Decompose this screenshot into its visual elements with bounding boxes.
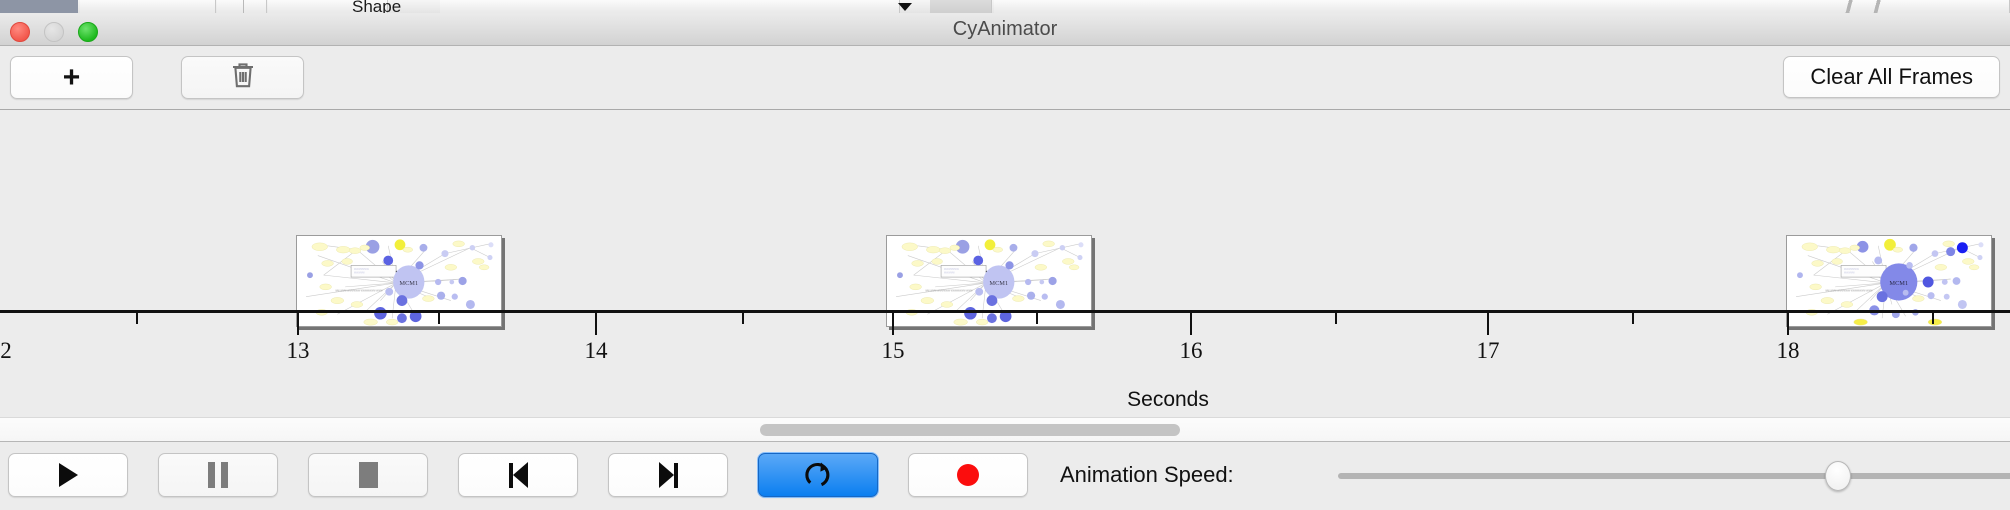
horizontal-scrollbar-thumb[interactable] (760, 424, 1180, 436)
axis-major-tick (297, 313, 299, 335)
svg-text:WW WWW WWWWWW WWWWWWW WWW: WW WWW WWWWWW WWWWWWW WWW (335, 291, 383, 293)
loop-button[interactable] (758, 453, 878, 497)
background-dropdown-arrow-icon (898, 3, 912, 11)
axis-minor-tick (1335, 313, 1337, 324)
clear-all-frames-button[interactable]: Clear All Frames (1783, 56, 2000, 98)
loop-icon (804, 460, 832, 490)
background-window-strip: Shape (0, 0, 2010, 13)
pause-button[interactable] (158, 453, 278, 497)
stop-button[interactable] (308, 453, 428, 497)
record-icon (957, 464, 979, 486)
frame-thumbnail-18[interactable]: WWWWWWWWWWWW WW WWW WWWWWW WWWWWWW WWW M… (1786, 235, 1992, 327)
axis-tick-label: 17 (1477, 338, 1500, 364)
svg-text:WWWWW: WWWWW (354, 273, 365, 275)
axis-major-tick (892, 313, 894, 335)
background-cell (930, 0, 992, 13)
axis-tick-label: 14 (585, 338, 608, 364)
timeline-panel[interactable]: WWWWWWWWWWWW WW WWW WWWWWW WWWWWWW WWW M… (0, 110, 2010, 417)
skip-to-start-button[interactable] (458, 453, 578, 497)
svg-text:WW WWW WWWWWW WWWWWWW WWW: WW WWW WWWWWW WWWWWWW WWW (1825, 291, 1873, 293)
svg-text:MCM1: MCM1 (1889, 280, 1908, 287)
axis-minor-tick (136, 313, 138, 324)
axis-tick-label: 15 (882, 338, 905, 364)
axis-major-tick (1190, 313, 1192, 335)
svg-text:WW WWW WWWWWW WWWWWWW WWW: WW WWW WWWWWW WWWWWWW WWW (925, 291, 973, 293)
axis-minor-tick (742, 313, 744, 324)
background-resize-hatch (1806, 0, 1896, 13)
horizontal-scrollbar-track[interactable] (0, 417, 2010, 442)
background-cell (217, 0, 267, 13)
delete-frame-button[interactable] (181, 56, 304, 99)
play-button[interactable] (8, 453, 128, 497)
skip-back-icon (509, 462, 528, 488)
axis-minor-tick (1036, 313, 1038, 324)
axis-tick-label: 18 (1777, 338, 1800, 364)
svg-text:MCM1: MCM1 (399, 280, 418, 287)
pause-icon (208, 462, 228, 488)
background-window-label: Shape (352, 0, 401, 13)
plus-icon: + (63, 63, 81, 93)
playback-control-bar: Animation Speed: (0, 443, 2010, 510)
svg-text:WWWWWWW: WWWWWWW (944, 269, 960, 271)
title-bar: CyAnimator (0, 13, 2010, 46)
animation-speed-slider[interactable] (1338, 473, 2010, 479)
animation-speed-slider-knob[interactable] (1825, 461, 1851, 491)
axis-major-tick (595, 313, 597, 335)
record-button[interactable] (908, 453, 1028, 497)
stop-icon (359, 462, 378, 488)
svg-text:MCM1: MCM1 (989, 280, 1008, 287)
axis-tick-label: 16 (1180, 338, 1203, 364)
frame-toolbar: + Clear All Frames (0, 46, 2010, 110)
trash-icon (230, 61, 256, 94)
window-title: CyAnimator (0, 13, 2010, 46)
svg-text:WWWWW: WWWWW (944, 273, 955, 275)
animation-speed-label: Animation Speed: (1060, 453, 1234, 497)
background-selected-tab (0, 0, 78, 13)
axis-major-tick (1787, 313, 1789, 335)
background-cell (440, 0, 900, 13)
axis-minor-tick (438, 313, 440, 324)
background-cell (80, 0, 216, 13)
svg-text:WWWWW: WWWWW (1844, 273, 1855, 275)
skip-to-end-button[interactable] (608, 453, 728, 497)
svg-text:WWWWWWW: WWWWWWW (1844, 269, 1860, 271)
skip-forward-icon (659, 462, 678, 488)
frame-thumbnail-15[interactable]: WWWWWWWWWWWW WW WWW WWWWWW WWWWWWW WWW M… (886, 235, 1092, 327)
cyanimator-window: Shape CyAnimator + (0, 0, 2010, 510)
add-frame-button[interactable]: + (10, 56, 133, 99)
axis-caption: Seconds (1127, 388, 1209, 412)
play-icon (59, 463, 78, 487)
axis-tick-label: 2 (0, 338, 12, 364)
axis-major-tick (1487, 313, 1489, 335)
timeline-axis (0, 310, 2010, 313)
axis-minor-tick (1632, 313, 1634, 324)
svg-text:WWWWWWW: WWWWWWW (354, 269, 370, 271)
axis-minor-tick (1932, 313, 1934, 324)
frame-thumbnail-13[interactable]: WWWWWWWWWWWW WW WWW WWWWWW WWWWWWW WWW M… (296, 235, 502, 327)
axis-tick-label: 13 (287, 338, 310, 364)
